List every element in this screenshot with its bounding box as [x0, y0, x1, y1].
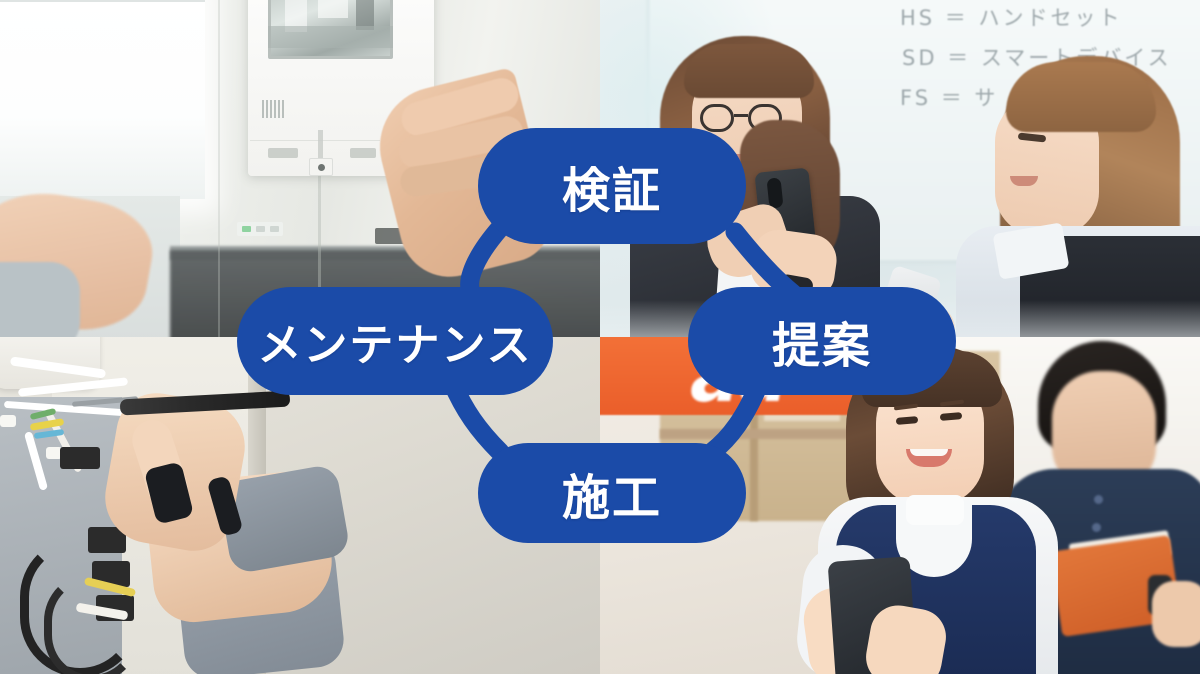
node-teian[interactable]: 提案 — [688, 287, 956, 395]
node-maintenance[interactable]: メンテナンス — [237, 287, 553, 395]
connector-arcs — [0, 0, 1200, 674]
cycle-diagram: 検証 提案 施工 メンテナンス — [0, 0, 1200, 674]
node-kensho[interactable]: 検証 — [478, 128, 746, 244]
node-sekou[interactable]: 施工 — [478, 443, 746, 543]
diagram-stage: HS ＝ ハンドセット SD ＝ スマートデバイス FS ＝ サ — [0, 0, 1200, 674]
